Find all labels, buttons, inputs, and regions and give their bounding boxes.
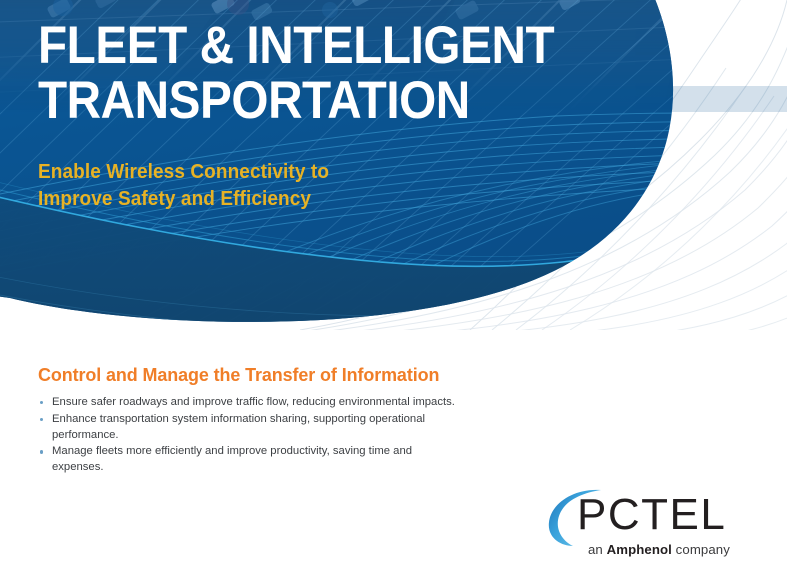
page-title: FLEET & INTELLIGENT TRANSPORTATION	[38, 18, 578, 128]
list-item: Ensure safer roadways and improve traffi…	[38, 395, 458, 411]
tagline-suffix: company	[672, 542, 730, 557]
list-item-text: Enhance transportation system informatio…	[52, 413, 425, 441]
list-item: Manage fleets more efficiently and impro…	[38, 444, 458, 476]
bullet-dot-icon	[40, 418, 43, 421]
page-subtitle: Enable Wireless Connectivity to Improve …	[38, 159, 608, 212]
pctel-logo: PCTEL an Amphenol company	[543, 486, 743, 564]
benefits-list: Ensure safer roadways and improve traffi…	[38, 395, 458, 476]
main-content: Control and Manage the Transfer of Infor…	[38, 364, 458, 477]
tagline-prefix: an	[588, 542, 607, 557]
bullet-dot-icon	[40, 450, 43, 453]
amphenol-tagline: an Amphenol company	[588, 542, 730, 557]
list-item-text: Ensure safer roadways and improve traffi…	[52, 396, 455, 408]
section-heading: Control and Manage the Transfer of Infor…	[38, 364, 445, 386]
hero-text-block: FLEET & INTELLIGENT TRANSPORTATION Enabl…	[38, 18, 638, 212]
list-item: Enhance transportation system informatio…	[38, 412, 458, 444]
list-item-text: Manage fleets more efficiently and impro…	[52, 445, 412, 473]
hero-banner: FLEET & INTELLIGENT TRANSPORTATION Enabl…	[0, 0, 787, 330]
pctel-wordmark: PCTEL	[577, 493, 726, 537]
tagline-brand: Amphenol	[607, 542, 672, 557]
bullet-dot-icon	[40, 401, 43, 404]
brochure-cover-page: FLEET & INTELLIGENT TRANSPORTATION Enabl…	[0, 0, 787, 578]
